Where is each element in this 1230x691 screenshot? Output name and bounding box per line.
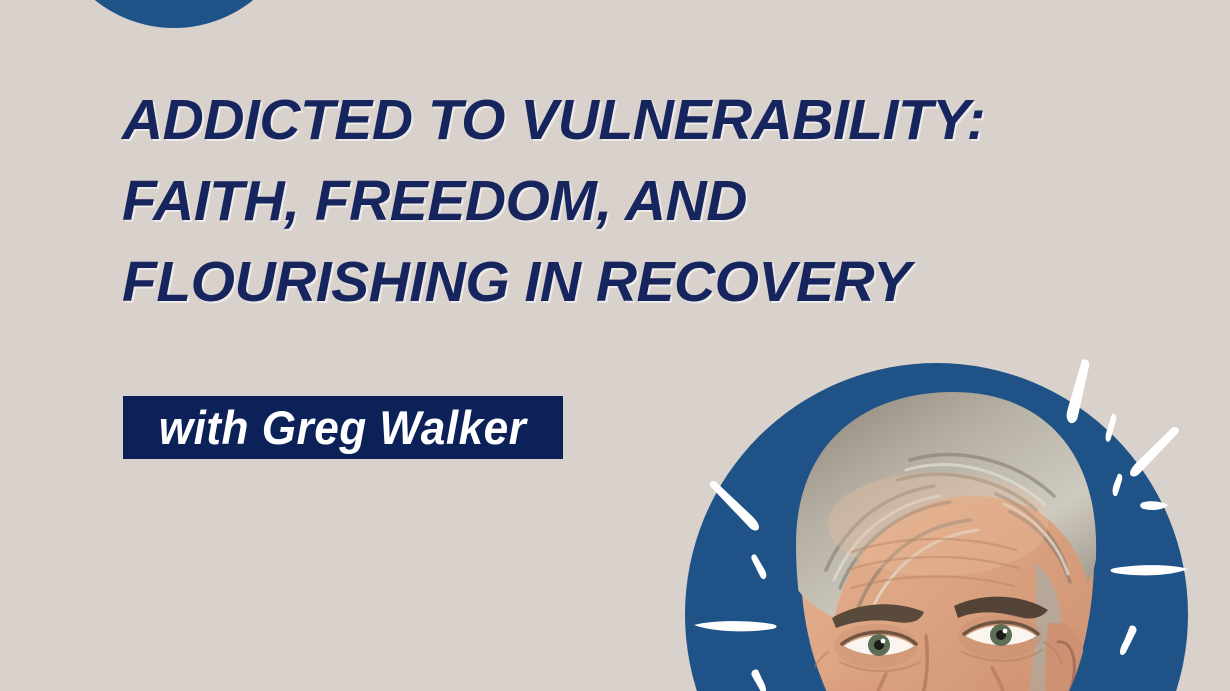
episode-title-line-2: FAITH, FREEDOM, AND — [122, 161, 952, 242]
guest-portrait-group — [660, 330, 1230, 691]
episode-title-line-1: ADDICTED TO VULNERABILITY: — [122, 80, 952, 161]
guest-name-banner: with Greg Walker — [123, 396, 563, 459]
guest-name-label: with Greg Walker — [159, 404, 527, 451]
episode-title: ADDICTED TO VULNERABILITY: FAITH, FREEDO… — [122, 80, 952, 323]
episode-title-line-3: FLOURISHING IN RECOVERY — [122, 242, 952, 323]
title-card-canvas: ADDICTED TO VULNERABILITY: FAITH, FREEDO… — [0, 0, 1230, 691]
partial-circle-top-left-decoration — [48, 0, 300, 28]
radiating-dash-marks-decoration — [660, 330, 1230, 691]
